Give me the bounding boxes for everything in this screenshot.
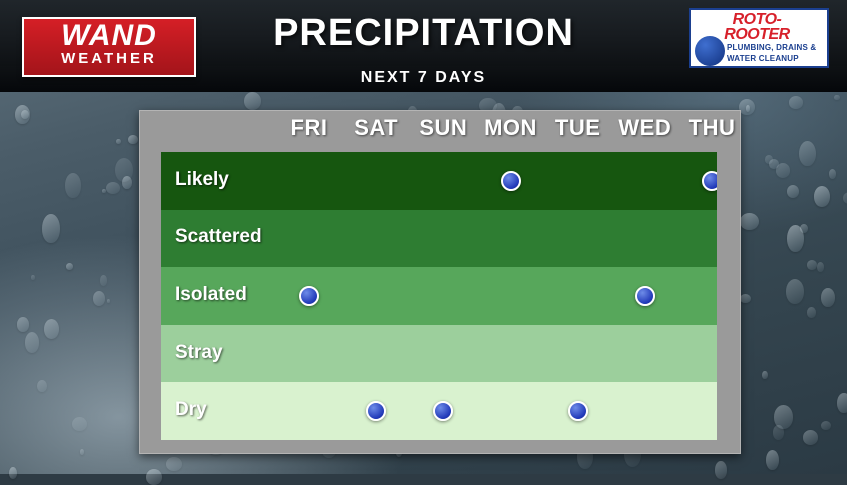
wand-logo-line2: WEATHER <box>24 51 194 67</box>
droplet <box>115 158 133 182</box>
droplet <box>766 450 779 470</box>
droplet <box>821 288 835 307</box>
droplet <box>106 182 120 194</box>
day-axis-labels: FRISATSUNMONTUEWEDTHU <box>140 115 740 149</box>
data-point-fri <box>299 286 319 306</box>
droplet <box>66 263 73 270</box>
droplet <box>65 173 81 198</box>
droplet <box>787 185 799 198</box>
droplet <box>17 317 29 332</box>
droplet <box>817 262 824 272</box>
band-scattered: Scattered <box>161 210 717 268</box>
band-label-scattered: Scattered <box>175 226 262 248</box>
band-isolated: Isolated <box>161 267 717 325</box>
droplet <box>100 275 107 286</box>
data-point-thu <box>702 171 717 191</box>
droplet <box>814 186 830 207</box>
droplet <box>807 307 816 318</box>
sponsor-tagline-line2: WATER CLEANUP <box>727 54 799 63</box>
sponsor-tagline-line1: PLUMBING, DRAINS & <box>727 43 816 52</box>
sponsor-name-line1: ROTO- <box>691 12 823 27</box>
droplet <box>762 371 768 379</box>
droplet <box>128 135 138 144</box>
droplet <box>25 332 39 353</box>
droplet <box>769 159 779 169</box>
droplet <box>80 449 84 455</box>
chart-plot-area: LikelyScatteredIsolatedStrayDry <box>161 152 717 440</box>
band-label-dry: Dry <box>175 399 207 421</box>
droplet <box>821 421 831 430</box>
droplet <box>837 393 847 413</box>
wand-weather-logo: WAND WEATHER <box>22 17 196 77</box>
droplet <box>774 405 793 429</box>
droplet <box>244 92 261 110</box>
droplet <box>834 95 840 100</box>
band-label-isolated: Isolated <box>175 284 247 306</box>
band-label-stray: Stray <box>175 342 223 364</box>
droplet <box>107 299 110 303</box>
droplet <box>740 294 751 303</box>
droplet <box>9 467 17 479</box>
wand-logo-line1: WAND <box>24 20 194 51</box>
droplet <box>799 141 816 166</box>
droplet <box>44 319 59 339</box>
droplet <box>843 192 847 204</box>
data-point-wed <box>635 286 655 306</box>
droplet <box>746 105 750 112</box>
droplet <box>37 380 47 392</box>
precipitation-chart-panel: FRISATSUNMONTUEWEDTHU LikelyScatteredIso… <box>139 110 741 454</box>
droplet <box>786 279 804 304</box>
sponsor-globe-icon <box>695 36 725 66</box>
band-likely: Likely <box>161 152 717 210</box>
droplet <box>166 457 182 471</box>
droplet <box>72 417 87 431</box>
roto-rooter-sponsor-logo: ROTO- ROOTER PLUMBING, DRAINS & WATER CL… <box>689 8 829 68</box>
droplet <box>93 291 105 306</box>
data-point-mon <box>501 171 521 191</box>
droplet <box>787 225 804 252</box>
day-label-thu: THU <box>672 115 752 141</box>
droplet <box>807 260 817 270</box>
band-label-likely: Likely <box>175 169 229 191</box>
droplet <box>829 169 836 179</box>
droplet <box>42 214 60 243</box>
droplet <box>789 96 803 109</box>
droplet <box>803 430 818 445</box>
droplet <box>31 275 35 280</box>
droplet <box>102 189 106 193</box>
droplet <box>146 469 162 485</box>
droplet <box>740 213 759 230</box>
band-stray: Stray <box>161 325 717 383</box>
data-point-tue <box>568 401 588 421</box>
droplet <box>715 461 727 479</box>
droplet <box>116 139 121 144</box>
